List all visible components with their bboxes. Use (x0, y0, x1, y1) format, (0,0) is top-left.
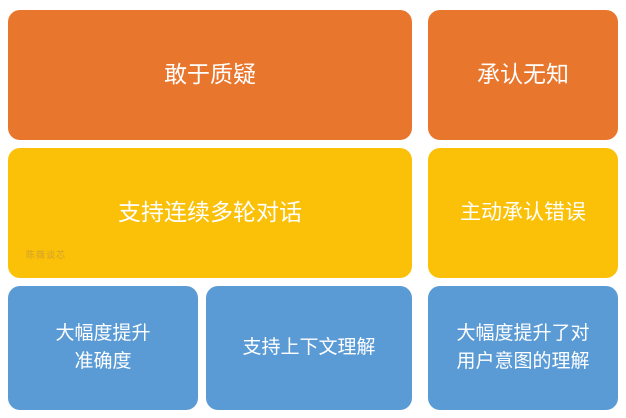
card-context-understand[interactable]: 支持上下文理解 (206, 286, 412, 410)
card-admit-ignorance[interactable]: 承认无知 (428, 10, 618, 140)
diagram-canvas: 敢于质疑 承认无知 支持连续多轮对话 主动承认错误 大幅度提升 准确度 支持上下… (0, 0, 626, 418)
card-label: 承认无知 (438, 58, 608, 91)
card-label: 大幅度提升 准确度 (18, 320, 188, 375)
card-label: 支持连续多轮对话 (18, 196, 402, 229)
card-label: 大幅度提升了对 用户意图的理解 (438, 320, 608, 375)
card-label: 敢于质疑 (18, 58, 402, 91)
card-multi-turn-dialog[interactable]: 支持连续多轮对话 (8, 148, 412, 278)
card-accuracy-boost[interactable]: 大幅度提升 准确度 (8, 286, 198, 410)
card-label: 主动承认错误 (438, 198, 608, 228)
card-intent-understand[interactable]: 大幅度提升了对 用户意图的理解 (428, 286, 618, 410)
card-label: 支持上下文理解 (216, 334, 402, 362)
card-dare-to-question[interactable]: 敢于质疑 (8, 10, 412, 140)
watermark-text: 陈薇谈芯 (26, 248, 66, 261)
card-admit-mistakes[interactable]: 主动承认错误 (428, 148, 618, 278)
